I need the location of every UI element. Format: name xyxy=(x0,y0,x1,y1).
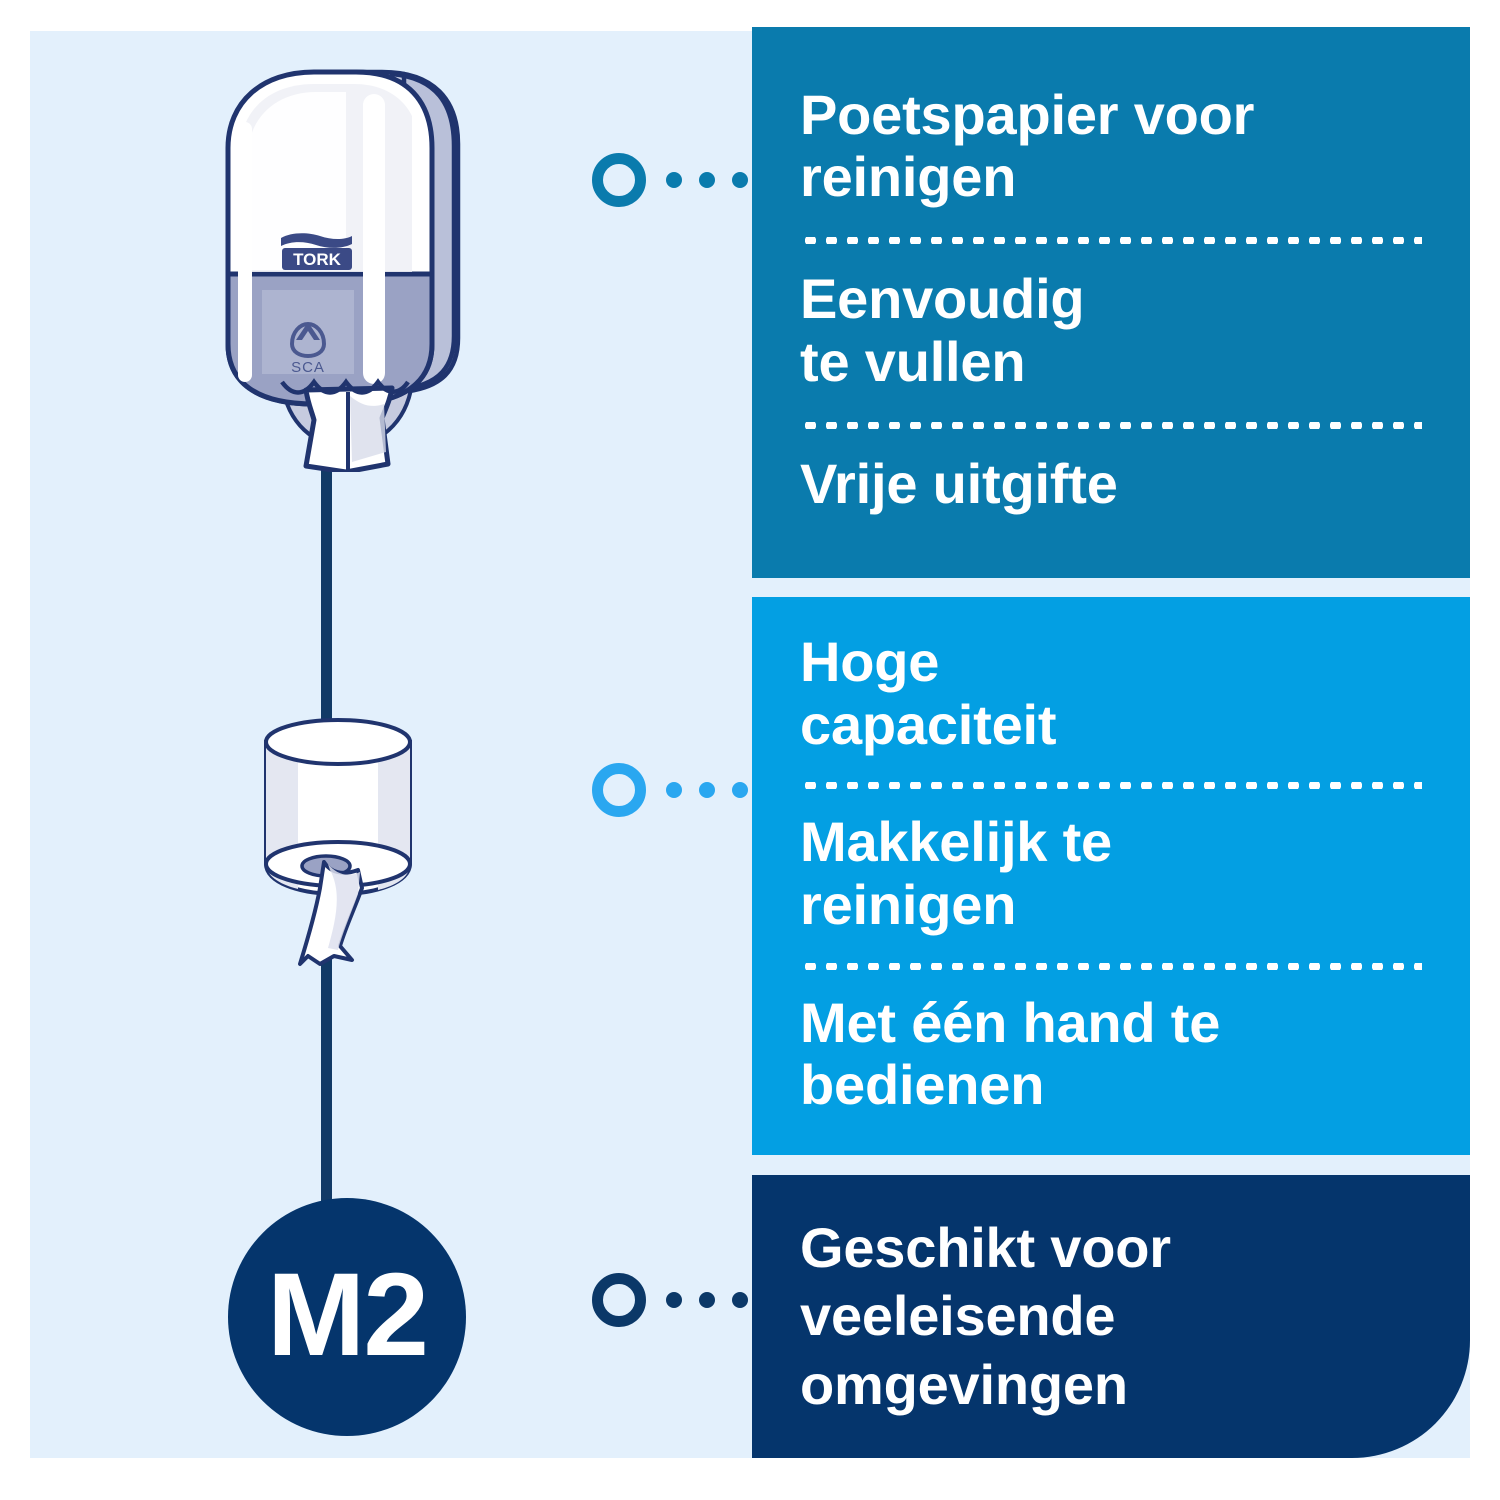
feature-row: Hoge capaciteit xyxy=(800,623,1422,768)
feature-label: Eenvoudig te vullen xyxy=(800,268,1422,393)
feature-row: Poetspapier voor reinigen xyxy=(800,76,1422,223)
feature-label: Poetspapier voor reinigen xyxy=(800,84,1422,209)
divider-dotted xyxy=(800,237,1422,244)
infographic-root: TORK SCA xyxy=(0,0,1500,1500)
paper-roll-icon xyxy=(258,712,418,982)
svg-text:TORK: TORK xyxy=(293,250,342,269)
feature-row: Makkelijk te reinigen xyxy=(800,803,1422,948)
feature-label: Makkelijk te reinigen xyxy=(800,811,1422,936)
feature-panel-2: Hoge capaciteit Makkelijk te reinigen Me… xyxy=(752,597,1470,1155)
ring-connector-icon xyxy=(592,763,646,817)
ring-connector-icon xyxy=(592,1273,646,1327)
m2-badge-label: M2 xyxy=(267,1256,427,1374)
feature-label: Vrije uitgifte xyxy=(800,453,1422,516)
paper-dispenser-icon: TORK SCA xyxy=(196,52,496,472)
m2-system-badge: M2 xyxy=(228,1198,466,1436)
divider-dotted xyxy=(800,782,1422,789)
feature-label: Hoge capaciteit xyxy=(800,631,1422,756)
feature-row: Eenvoudig te vullen xyxy=(800,258,1422,407)
divider-dotted xyxy=(800,422,1422,429)
feature-panel-3: Geschikt voor veeleisende omgevingen xyxy=(752,1175,1470,1458)
feature-row: Met één hand te bedienen xyxy=(800,984,1422,1129)
feature-label: Met één hand te bedienen xyxy=(800,992,1422,1117)
feature-row: Geschikt voor veeleisende omgevingen xyxy=(800,1214,1422,1419)
ring-connector-icon xyxy=(592,153,646,207)
svg-text:SCA: SCA xyxy=(291,359,325,376)
feature-panel-1: Poetspapier voor reinigen Eenvoudig te v… xyxy=(752,27,1470,578)
divider-dotted xyxy=(800,963,1422,970)
connector-line-upper xyxy=(321,470,332,735)
feature-label: Geschikt voor veeleisende omgevingen xyxy=(800,1214,1422,1419)
feature-row: Vrije uitgifte xyxy=(800,443,1422,530)
